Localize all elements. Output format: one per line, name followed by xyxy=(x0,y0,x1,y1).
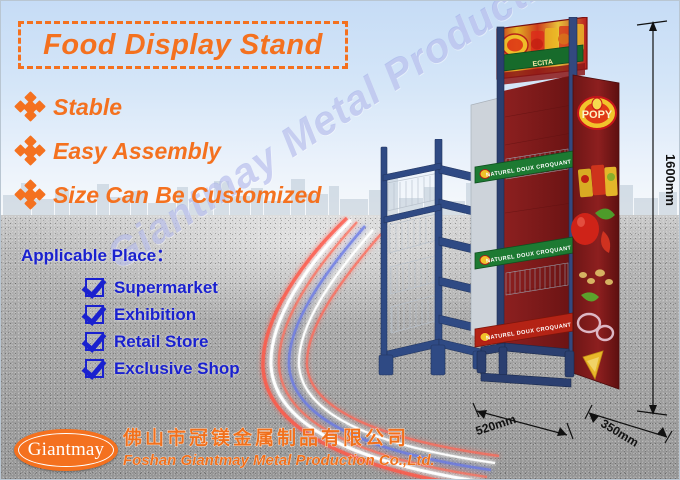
checkbox-checked-icon xyxy=(85,359,104,378)
height-dimension-label: 1600mm xyxy=(663,154,678,206)
place-label: Exclusive Shop xyxy=(114,359,240,379)
place-label: Exhibition xyxy=(114,305,196,325)
feature-label: Stable xyxy=(53,94,122,121)
height-dimension-arrow xyxy=(627,19,673,419)
place-item: Exclusive Shop xyxy=(85,355,240,382)
place-item: Exhibition xyxy=(85,301,240,328)
company-name-block: 佛山市冠镁金属制品有限公司 Foshan Giantmay Metal Prod… xyxy=(123,427,435,471)
place-label: Supermarket xyxy=(114,278,218,298)
page-title: Food Display Stand xyxy=(43,29,323,62)
company-name-cn: 佛山市冠镁金属制品有限公司 xyxy=(123,427,435,451)
diamond-cluster-icon xyxy=(15,94,45,120)
feature-label: Size Can Be Customized xyxy=(53,182,321,209)
feature-list: Stable Easy Assembly Size Can Be Customi… xyxy=(15,85,415,217)
svg-text:POPY: POPY xyxy=(582,109,613,121)
diamond-cluster-icon xyxy=(15,182,45,208)
diamond-cluster-icon xyxy=(15,138,45,164)
applicable-place-section: Applicable Place： Supermarket Exhibition… xyxy=(21,241,240,382)
title-box: Food Display Stand xyxy=(18,21,348,69)
feature-label: Easy Assembly xyxy=(53,138,221,165)
company-name-en: Foshan Giantmay Metal Production Co.,Ltd… xyxy=(123,451,435,471)
poster-canvas: Giantmay Metal Production xyxy=(0,0,680,480)
feature-item: Size Can Be Customized xyxy=(15,173,415,217)
place-item: Supermarket xyxy=(85,274,240,301)
footer: Giantmay 佛山市冠镁金属制品有限公司 Foshan Giantmay M… xyxy=(1,423,680,479)
company-logo: Giantmay xyxy=(14,429,118,471)
checkbox-checked-icon xyxy=(85,332,104,351)
checkbox-checked-icon xyxy=(85,278,104,297)
logo-text: Giantmay xyxy=(28,439,105,461)
feature-item: Stable xyxy=(15,85,415,129)
place-label: Retail Store xyxy=(114,332,208,352)
applicable-place-list: Supermarket Exhibition Retail Store Excl… xyxy=(85,274,240,382)
popy-display-stand-product-image: ECITA NATUREL DOUX CROQUANT NATUREL DOUX… xyxy=(469,17,629,417)
feature-item: Easy Assembly xyxy=(15,129,415,173)
place-item: Retail Store xyxy=(85,328,240,355)
checkbox-checked-icon xyxy=(85,305,104,324)
applicable-place-heading: Applicable Place： xyxy=(21,241,240,266)
